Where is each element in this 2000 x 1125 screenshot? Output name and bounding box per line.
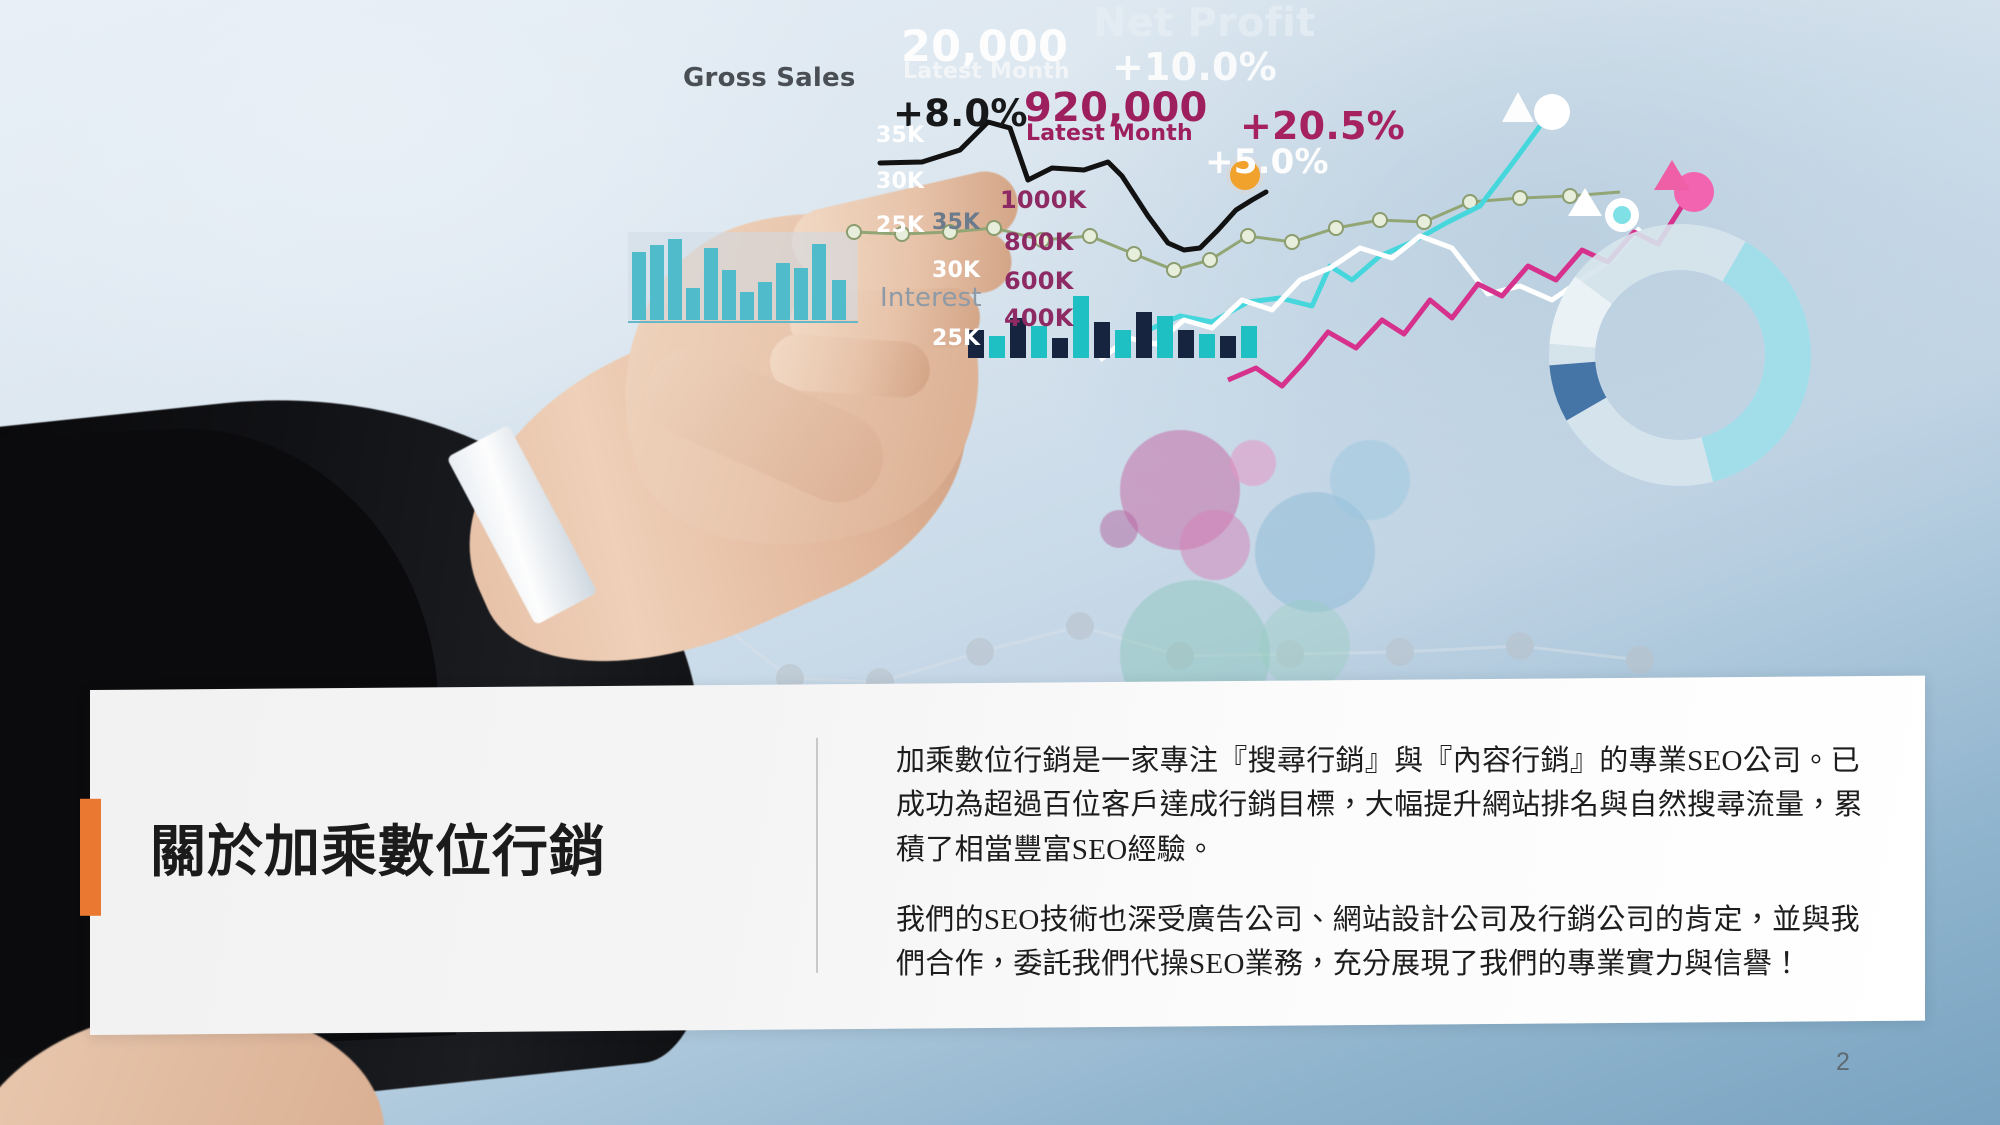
- stat-pct-5: +5.0%: [1205, 142, 1329, 182]
- bokeh-circle: [1230, 440, 1276, 486]
- axis-tick-35k-a: 35K: [876, 123, 924, 148]
- axis-tick-35k-b: 35K: [932, 210, 980, 235]
- bokeh-circle: [1180, 510, 1250, 580]
- body-paragraph-1: 加乘數位行銷是一家專注『搜尋行銷』與『內容行銷』的專業SEO公司。已成功為超過百…: [896, 739, 1877, 872]
- page-number: 2: [1836, 1048, 1850, 1077]
- body-paragraph-2: 我們的SEO技術也深受廣告公司、網站設計公司及行銷公司的肯定，並與我們合作，委託…: [896, 898, 1877, 987]
- bokeh-circle: [1100, 510, 1138, 548]
- body-copy: 加乘數位行銷是一家專注『搜尋行銷』與『內容行銷』的專業SEO公司。已成功為超過百…: [690, 683, 1905, 1028]
- bokeh-circle: [1330, 440, 1410, 520]
- slide-canvas: Gross Sales Interest 20,000 Latest Month…: [0, 0, 2000, 1125]
- label-gross-sales: Gross Sales: [683, 63, 856, 93]
- accent-bar: [80, 799, 101, 916]
- label-interest: Interest: [880, 283, 982, 313]
- axis-tick-30k-b: 30K: [932, 258, 980, 283]
- stat-caption-latest-month-a: Latest Month: [903, 59, 1070, 84]
- axis-tick-25k-a: 25K: [876, 213, 924, 238]
- stat-pct-10: +10.0%: [1112, 45, 1277, 89]
- label-net-profit: Net Profit: [1093, 0, 1315, 46]
- axis-tick-400k: 400K: [1004, 304, 1074, 332]
- axis-tick-25k-b: 25K: [932, 326, 980, 351]
- axis-tick-1000k: 1000K: [1000, 186, 1086, 214]
- bokeh-circle: [1260, 600, 1350, 690]
- page-title: 關於加乘數位行銷: [150, 823, 760, 882]
- axis-tick-800k: 800K: [1004, 228, 1074, 256]
- content-panel: 關於加乘數位行銷 加乘數位行銷是一家專注『搜尋行銷』與『內容行銷』的專業SEO公…: [90, 676, 1925, 1035]
- axis-tick-600k: 600K: [1004, 267, 1074, 295]
- axis-tick-30k-a: 30K: [876, 169, 924, 194]
- stat-caption-latest-month-b: Latest Month: [1026, 121, 1193, 146]
